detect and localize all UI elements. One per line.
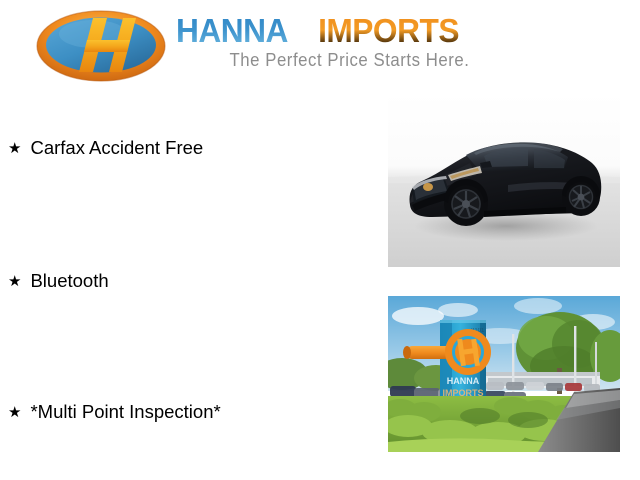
brand-tagline: The Perfect Price Starts Here. [210,50,489,71]
feature-label: Bluetooth [30,272,108,291]
vehicle-photo [388,93,620,267]
svg-text:HANNA: HANNA [176,13,288,49]
brand-header: HANNA IMPORTS The Perfect Price Starts H… [0,0,640,92]
svg-text:IMPORTS: IMPORTS [318,13,459,49]
list-item: ★ Bluetooth [8,268,109,294]
star-bullet-icon: ★ [8,274,21,289]
hanna-h-oval-emblem-icon [35,10,167,82]
list-item: ★ Carfax Accident Free [8,135,203,161]
star-bullet-icon: ★ [8,141,21,156]
list-item: ★ *Multi Point Inspection* [8,399,221,425]
star-bullet-icon: ★ [8,405,21,420]
svg-text:HANNA: HANNA [447,376,480,386]
feature-label: Carfax Accident Free [30,139,203,158]
dealership-photo: 3101 HANNA IMPORTS [388,296,620,452]
hanna-imports-wordmark: HANNA IMPORTS [176,13,516,49]
feature-label: *Multi Point Inspection* [30,403,220,422]
